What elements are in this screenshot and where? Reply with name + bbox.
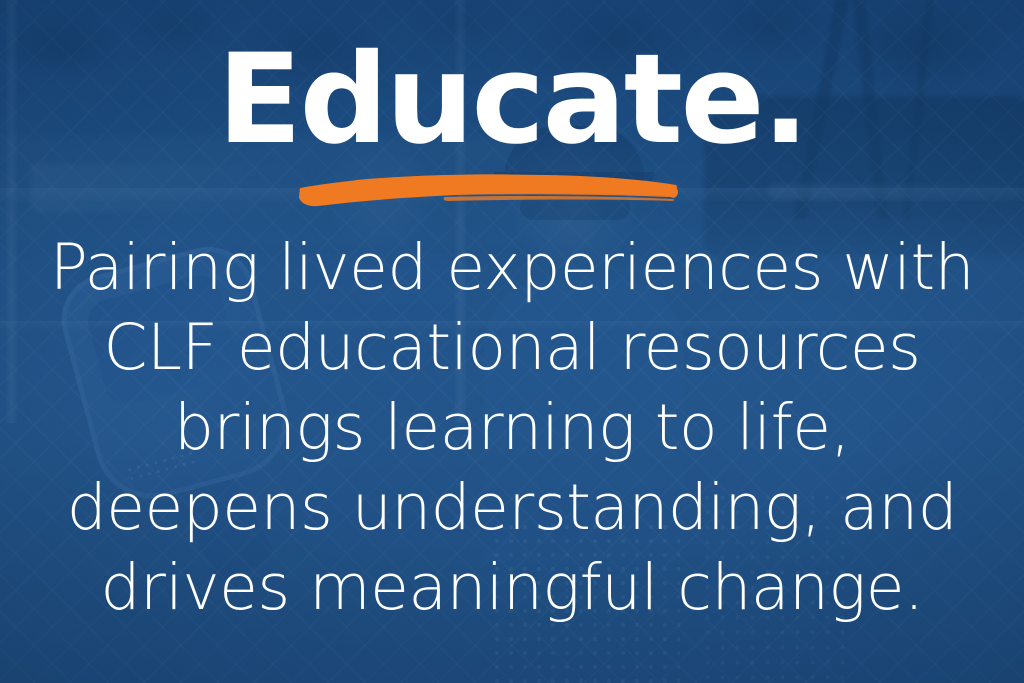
orange-brush-underline-icon [296, 166, 682, 212]
body-paragraph: Pairing lived experiences with CLF educa… [0, 228, 1024, 628]
body-line: drives meaningful change. [0, 548, 1024, 628]
page-title: Educate. [0, 38, 1024, 162]
body-line: deepens understanding, and [0, 468, 1024, 548]
body-line: CLF educational resources [0, 308, 1024, 388]
body-line: Pairing lived experiences with [0, 228, 1024, 308]
content-layer: Educate. Pairing lived experiences with … [0, 0, 1024, 683]
body-line: brings learning to life, [0, 388, 1024, 468]
promo-graphic: Educate. Pairing lived experiences with … [0, 0, 1024, 683]
